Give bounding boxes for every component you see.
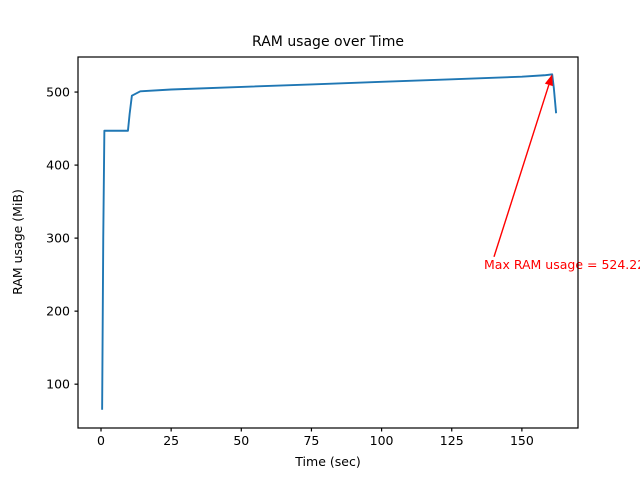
y-tick-label: 300 [46,231,70,246]
y-axis-label: RAM usage (MiB) [10,189,25,295]
y-tick-label: 100 [46,377,70,392]
x-tick-label: 150 [510,433,534,448]
x-tick-label: 100 [370,433,394,448]
x-tick-label: 50 [233,433,249,448]
x-tick-label: 0 [97,433,105,448]
y-tick-label: 200 [46,304,70,319]
y-tick-label: 400 [46,158,70,173]
x-axis-label: Time (sec) [294,454,360,469]
plot-area-background [78,57,578,428]
chart-title: RAM usage over Time [252,34,404,50]
x-tick-label: 125 [440,433,464,448]
x-axis-ticks: 0255075100125150 [97,428,534,448]
y-tick-label: 500 [46,85,70,100]
x-tick-label: 75 [303,433,319,448]
chart-canvas: Max RAM usage = 524.22 0255075100125150 … [0,0,640,480]
x-tick-label: 25 [163,433,179,448]
matplotlib-figure: Max RAM usage = 524.22 0255075100125150 … [0,0,640,480]
y-axis-ticks: 100200300400500 [46,85,78,392]
max-ram-annotation-label: Max RAM usage = 524.22 [484,257,640,272]
